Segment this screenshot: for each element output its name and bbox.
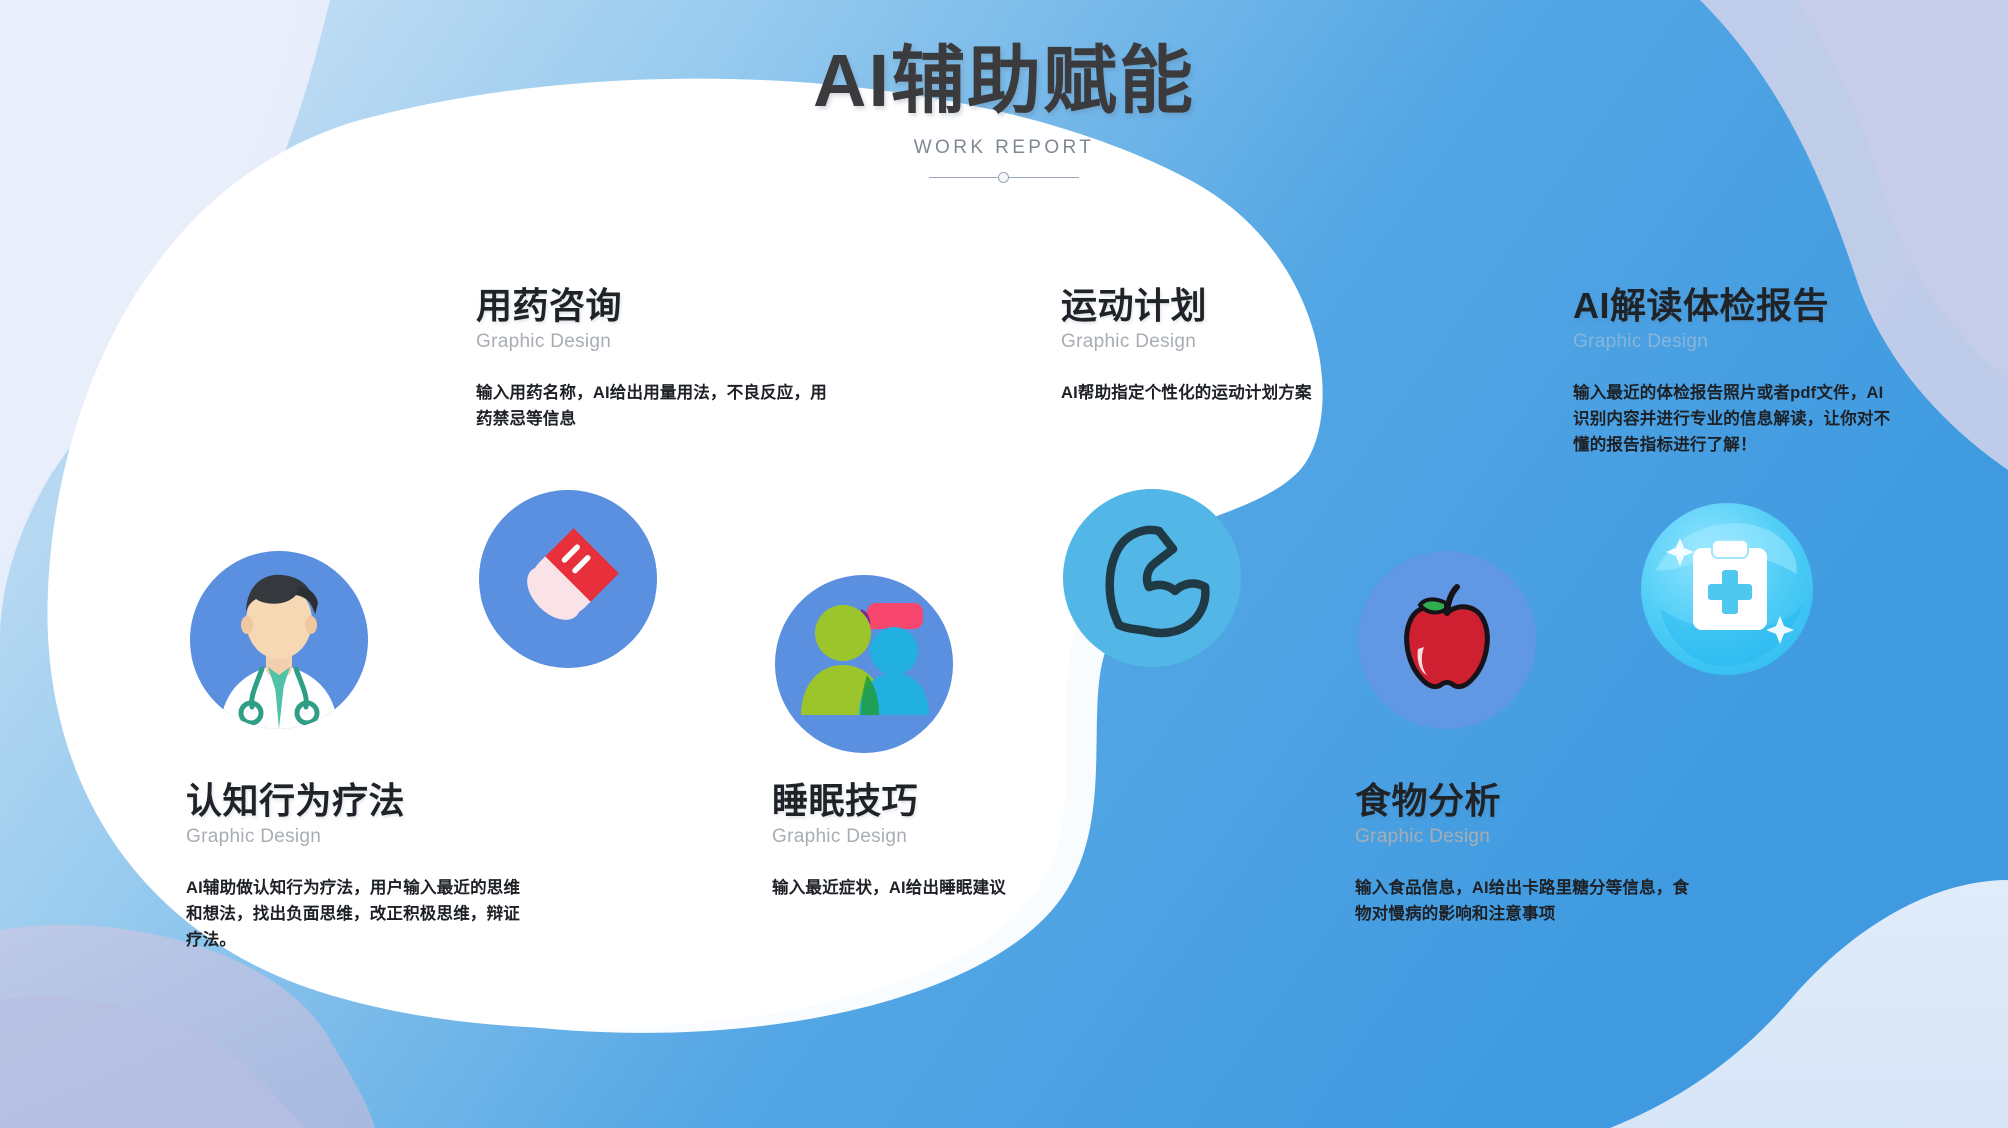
block-desc-exercise: AI帮助指定个性化的运动计划方案: [1061, 381, 1361, 407]
title-divider: [929, 171, 1079, 185]
block-title-food: 食物分析: [1355, 780, 1695, 822]
block-desc-sleep: 输入最近症状，AI给出睡眠建议: [772, 876, 1072, 902]
page-subtitle: WORK REPORT: [0, 137, 2008, 159]
text-block-report: AI解读体检报告 Graphic Design 输入最近的体检报告照片或者pdf…: [1573, 285, 1893, 458]
two-people-talking-icon: [775, 575, 953, 753]
red-apple-icon: [1358, 551, 1536, 729]
block-title-report: AI解读体检报告: [1573, 285, 1893, 327]
block-title-medication: 用药咨询: [476, 285, 836, 327]
block-desc-cbt: AI辅助做认知行为疗法，用户输入最近的思维和想法，找出负面思维，改正积极思维，辩…: [186, 876, 526, 953]
block-desc-report: 输入最近的体检报告照片或者pdf文件，AI识别内容并进行专业的信息解读，让你对不…: [1573, 381, 1893, 458]
slide-canvas: AI辅助赋能 WORK REPORT 用药咨询 Graphic Design 输…: [0, 0, 2008, 1128]
text-block-food: 食物分析 Graphic Design 输入食品信息，AI给出卡路里糖分等信息，…: [1355, 780, 1695, 928]
divider-dot-icon: [998, 172, 1009, 183]
block-sublabel-cbt: Graphic Design: [186, 826, 526, 848]
medical-clipboard-icon: [1638, 500, 1816, 678]
block-sublabel-sleep: Graphic Design: [772, 826, 1072, 848]
block-title-exercise: 运动计划: [1061, 285, 1361, 327]
slide-header: AI辅助赋能 WORK REPORT: [0, 40, 2008, 185]
block-desc-food: 输入食品信息，AI给出卡路里糖分等信息，食物对慢病的影响和注意事项: [1355, 876, 1695, 927]
flexed-bicep-icon: [1063, 489, 1241, 667]
text-block-sleep: 睡眠技巧 Graphic Design 输入最近症状，AI给出睡眠建议: [772, 780, 1072, 902]
block-sublabel-exercise: Graphic Design: [1061, 331, 1361, 353]
block-title-cbt: 认知行为疗法: [186, 780, 526, 822]
page-title: AI辅助赋能: [0, 40, 2008, 123]
text-block-exercise: 运动计划 Graphic Design AI帮助指定个性化的运动计划方案: [1061, 285, 1361, 407]
block-sublabel-food: Graphic Design: [1355, 826, 1695, 848]
block-sublabel-medication: Graphic Design: [476, 331, 836, 353]
pill-capsule-icon: [479, 490, 657, 668]
block-sublabel-report: Graphic Design: [1573, 331, 1893, 353]
block-title-sleep: 睡眠技巧: [772, 780, 1072, 822]
doctor-avatar-icon: [190, 551, 368, 729]
text-block-medication: 用药咨询 Graphic Design 输入用药名称，AI给出用量用法，不良反应…: [476, 285, 836, 433]
block-desc-medication: 输入用药名称，AI给出用量用法，不良反应，用药禁忌等信息: [476, 381, 836, 432]
text-block-cbt: 认知行为疗法 Graphic Design AI辅助做认知行为疗法，用户输入最近…: [186, 780, 526, 953]
